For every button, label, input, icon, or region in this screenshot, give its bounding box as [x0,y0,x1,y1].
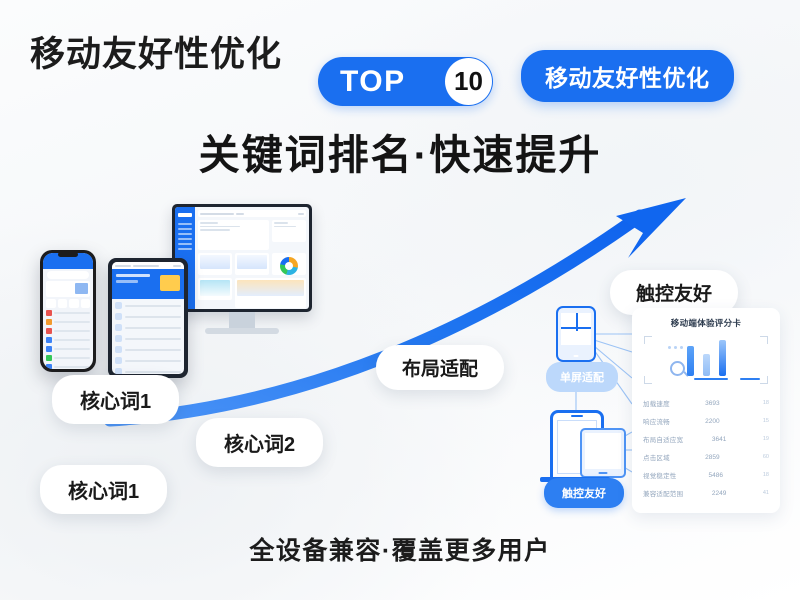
score-card-chart [644,336,768,384]
keyword-pill-3: 核心词1 [40,465,167,514]
table-row: 加载速度 3693 18 [643,394,769,412]
dashboard-donut-card [272,253,306,275]
list-item [46,337,90,343]
tag-pill-mobile-friendly: 移动友好性优化 [521,50,734,102]
diagram-tablet [580,428,626,478]
row-delta: 15 [755,418,769,424]
monitor-screen [172,204,312,312]
table-row: 布局自适应宽 3641 19 [643,430,769,448]
keyword-pill-2: 核心词2 [196,418,323,467]
chart-baseline [740,378,760,381]
table-row: 视觉稳定性 5486 18 [643,466,769,484]
row-delta: 18 [755,400,769,406]
row-delta: 18 [755,472,769,478]
row-value: 2249 [712,490,726,497]
phone-chip-row [46,299,90,308]
monitor-stand-foot [205,328,279,334]
row-value: 2859 [705,454,719,461]
tablet-list [112,299,184,374]
list-item [46,364,90,369]
phone-small-home-indicator [574,355,579,358]
diagram-pill-touch-friendly: 触控友好 [544,478,624,508]
monitor-stand-neck [229,312,255,328]
score-card-rows: 加载速度 3693 18 响应流畅 2200 15 布局自适应宽 3641 19… [643,394,769,502]
row-label: 视觉稳定性 [643,470,677,480]
list-item [46,328,90,334]
row-label: 加载速度 [643,398,670,408]
score-card-title: 移动端体验评分卡 [632,317,780,329]
footer-caption: 全设备兼容·覆盖更多用户 [0,531,800,567]
row-value: 5486 [709,472,723,479]
row-delta: 19 [755,436,769,442]
list-item [46,310,90,316]
row-delta: 41 [755,490,769,496]
list-item [46,319,90,325]
row-label: 响应流畅 [643,416,670,426]
monitor-dashboard [175,207,309,309]
layout-adaptation-pill: 布局适配 [376,345,504,390]
device-diagram: 单屏适配 触控友好 移动端体验评分卡 [536,300,786,515]
dashboard-card [272,220,306,242]
kicker-title: 移动友好性优化 [30,26,282,77]
chart-baseline [694,378,728,381]
list-item [115,346,181,353]
dashboard-body [195,207,309,309]
list-item [115,302,181,309]
smartphone-mockup [40,250,96,372]
diagram-pill-single-screen: 单屏适配 [546,362,618,392]
chart-bar [703,354,710,376]
phone-large-speaker [571,415,583,417]
diagram-tablet-screen [585,433,621,469]
dashboard-card [198,220,269,250]
diagram-phone-small [556,306,596,362]
chart-bar [687,346,694,376]
top-badge-word: TOP [340,65,406,99]
table-row: 响应流畅 2200 15 [643,412,769,430]
top10-badge: TOP 10 [318,57,493,106]
desktop-monitor-mockup [172,204,312,334]
list-item [115,324,181,331]
arrow-head [616,198,686,258]
dashboard-topbar [198,210,306,217]
chart-bar [719,340,726,376]
page-title: 关键词排名·快速提升 [0,121,800,181]
poster-canvas: 移动友好性优化 TOP 10 移动友好性优化 关键词排名·快速提升 [0,0,800,600]
score-card: 移动端体验评分卡 加载速度 3693 18 [632,308,780,513]
table-row: 点击区域 2859 60 [643,448,769,466]
row-value: 3693 [705,400,719,407]
phone-feature-card [46,281,90,297]
donut-chart [280,257,298,275]
chart-bars [644,340,768,376]
dashboard-area-card [235,278,306,308]
phone-result-list [46,310,90,369]
phone-small-screen [561,313,591,345]
list-item [115,368,181,374]
list-item [115,335,181,342]
phone-search-bar [47,271,89,279]
tablet-mockup [108,258,188,378]
keyword-pill-1: 核心词1 [52,375,179,424]
row-label: 布局自适应宽 [643,434,683,444]
list-item [115,313,181,320]
top-badge-number: 10 [445,58,492,105]
phone-screen [43,253,93,369]
row-label: 兼容适配范围 [643,488,683,498]
dashboard-chart-card [235,253,269,275]
row-value: 2200 [705,418,719,425]
dashboard-area-card [198,278,232,300]
list-item [115,357,181,364]
table-row: 兼容适配范围 2249 41 [643,484,769,502]
row-label: 点击区域 [643,452,670,462]
list-item [46,346,90,352]
dashboard-chart-card [198,253,232,275]
list-item [46,355,90,361]
tablet-topbar [112,262,184,269]
dashboard-cards [198,220,306,308]
row-delta: 60 [755,454,769,460]
row-value: 3641 [712,436,726,443]
tablet-screen [112,262,184,374]
phone-notch [58,252,78,257]
tablet-hero-banner [112,269,184,299]
